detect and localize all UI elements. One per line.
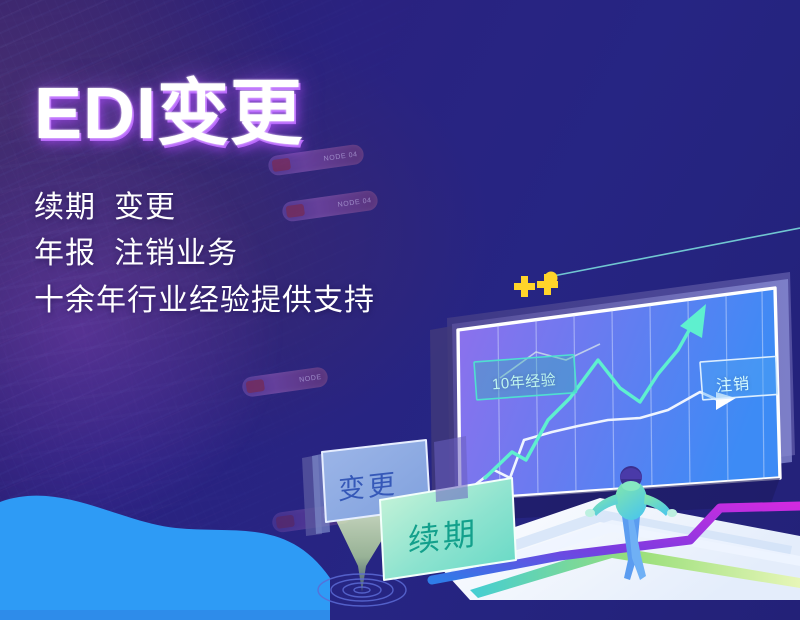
- banner-subtitle-list: 续期变更 年报注销业务 十余年行业经验提供支持: [34, 192, 375, 317]
- subtitle-line-3: 十余年行业经验提供支持: [34, 285, 375, 317]
- banner-title: EDI变更: [34, 78, 303, 150]
- subtitle-line-1: 续期变更: [34, 192, 375, 224]
- subtitle-line-1-part-b: 变更: [114, 191, 176, 224]
- subtitle-line-2: 年报注销业务: [34, 238, 375, 270]
- experience-tag-box: [474, 355, 577, 400]
- subtitle-line-2-part-b: 注销业务: [114, 237, 238, 270]
- small-violet-panel: [434, 436, 468, 502]
- plus-decorations: [514, 272, 558, 298]
- promo-banner: NODE 04 NODE 04 NODE NODE: [0, 0, 800, 620]
- connector-line: [553, 228, 800, 276]
- subtitle-line-1-part-a: 续期: [34, 191, 96, 224]
- subtitle-line-3-part-a: 十余年行业经验提供支持: [34, 284, 375, 317]
- cancel-tag-box: [700, 356, 779, 399]
- subtitle-line-2-part-a: 年报: [34, 237, 96, 270]
